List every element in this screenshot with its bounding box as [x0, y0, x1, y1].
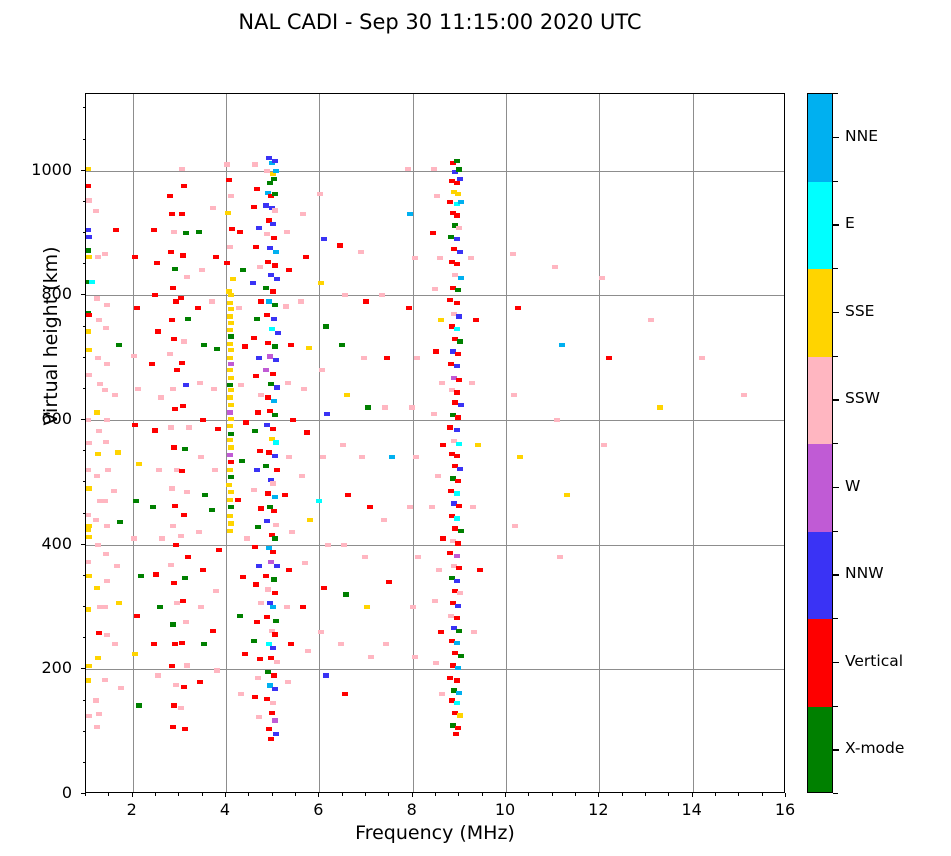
- data-point: [433, 661, 439, 665]
- data-point: [179, 212, 185, 216]
- data-point: [236, 306, 242, 310]
- data-point: [255, 410, 261, 414]
- data-point: [511, 393, 517, 397]
- data-point: [270, 550, 276, 554]
- data-point: [216, 548, 222, 552]
- y-tick-minor: [83, 606, 86, 607]
- data-point: [227, 342, 233, 346]
- data-point: [167, 352, 173, 356]
- data-point: [286, 455, 292, 459]
- data-point: [383, 642, 389, 646]
- x-tick-minor: [645, 793, 646, 796]
- data-point: [455, 288, 461, 292]
- data-point: [184, 275, 190, 279]
- data-point: [456, 629, 462, 633]
- data-point: [95, 452, 101, 456]
- data-point: [455, 726, 461, 730]
- x-tick-minor: [668, 793, 669, 796]
- y-tick-minor: [83, 232, 86, 233]
- data-point: [265, 587, 271, 591]
- data-point: [102, 678, 108, 682]
- data-point: [105, 468, 111, 472]
- data-point: [150, 505, 156, 509]
- data-point: [227, 410, 233, 414]
- data-point: [252, 545, 258, 549]
- data-point: [454, 516, 460, 520]
- x-tick-minor: [272, 793, 273, 796]
- data-point: [365, 405, 371, 409]
- data-point: [301, 387, 307, 391]
- data-point: [227, 328, 233, 332]
- data-point: [456, 314, 462, 318]
- data-point: [606, 356, 612, 360]
- data-point: [178, 296, 184, 300]
- y-tick-minor: [83, 731, 86, 732]
- data-point: [228, 307, 234, 311]
- data-point: [210, 206, 216, 210]
- data-point: [456, 691, 462, 695]
- x-tick-mark: [505, 793, 506, 797]
- data-point: [412, 655, 418, 659]
- data-point: [455, 352, 461, 356]
- data-point: [228, 417, 234, 421]
- data-point: [134, 306, 140, 310]
- colorbar-boundary-tick: [833, 618, 838, 619]
- data-point: [264, 615, 270, 619]
- data-point: [559, 343, 565, 347]
- data-point: [151, 228, 157, 232]
- data-point: [412, 256, 418, 260]
- data-point: [104, 303, 110, 307]
- data-point: [454, 579, 460, 583]
- data-point: [85, 329, 91, 333]
- data-point: [270, 605, 276, 609]
- colorbar-segment-e: [808, 182, 832, 270]
- x-tick-label: 16: [755, 800, 815, 819]
- data-point: [454, 554, 460, 558]
- data-point: [648, 318, 654, 322]
- data-point: [267, 246, 273, 250]
- data-point: [452, 273, 458, 277]
- data-point: [258, 299, 264, 303]
- data-point: [289, 530, 295, 534]
- data-point: [117, 520, 123, 524]
- data-point: [272, 495, 278, 499]
- data-point: [477, 568, 483, 572]
- data-point: [552, 265, 558, 269]
- data-point: [269, 327, 275, 331]
- data-point: [274, 468, 280, 472]
- data-point: [181, 513, 187, 517]
- data-point: [447, 551, 453, 555]
- x-tick-label: 10: [475, 800, 535, 819]
- data-point: [452, 400, 458, 404]
- data-point: [268, 560, 274, 564]
- data-point: [186, 425, 192, 429]
- colorbar-tick: [833, 574, 839, 575]
- x-tick-minor: [248, 793, 249, 796]
- data-point: [458, 529, 464, 533]
- x-tick-label: 6: [288, 800, 348, 819]
- data-point: [415, 555, 421, 559]
- data-point: [342, 692, 348, 696]
- colorbar-tick: [833, 224, 839, 225]
- data-point: [447, 200, 453, 204]
- data-point: [271, 673, 277, 677]
- data-point: [155, 329, 161, 333]
- x-tick-mark: [225, 793, 226, 797]
- data-point: [227, 395, 233, 399]
- data-point: [264, 519, 270, 523]
- data-point: [228, 505, 234, 509]
- data-point: [85, 513, 91, 517]
- y-tick-minor: [83, 637, 86, 638]
- colorbar-tick: [833, 662, 839, 663]
- data-point: [181, 685, 187, 689]
- data-point: [183, 231, 189, 235]
- colorbar-boundary-tick: [833, 443, 838, 444]
- colorbar-tick: [833, 399, 839, 400]
- data-point: [269, 711, 275, 715]
- data-point: [307, 518, 313, 522]
- data-point: [86, 574, 92, 578]
- data-point: [228, 348, 234, 352]
- data-point: [156, 468, 162, 472]
- data-point: [255, 676, 261, 680]
- data-point: [458, 403, 464, 407]
- data-point: [256, 356, 262, 360]
- colorbar-boundary-tick: [833, 531, 838, 532]
- data-point: [228, 334, 234, 338]
- x-tick-label: 4: [195, 800, 255, 819]
- data-point: [455, 415, 461, 419]
- data-point: [699, 356, 705, 360]
- x-tick-minor: [295, 793, 296, 796]
- data-point: [454, 213, 460, 217]
- data-point: [457, 467, 463, 471]
- data-point: [86, 313, 92, 317]
- data-point: [183, 620, 189, 624]
- data-point: [104, 579, 110, 583]
- data-point: [272, 536, 278, 540]
- colorbar-tick: [833, 487, 839, 488]
- data-point: [340, 443, 346, 447]
- data-point: [133, 499, 139, 503]
- data-point: [321, 237, 327, 241]
- data-point: [433, 349, 439, 353]
- data-point: [456, 504, 462, 508]
- data-point: [436, 568, 442, 572]
- data-point: [438, 318, 444, 322]
- data-point: [344, 393, 350, 397]
- data-point: [455, 604, 461, 608]
- data-point: [169, 486, 175, 490]
- data-point: [94, 474, 100, 478]
- data-point: [454, 390, 460, 394]
- data-point: [266, 299, 272, 303]
- gridline-vertical: [133, 94, 134, 792]
- data-point: [409, 405, 415, 409]
- x-tick-minor: [575, 793, 576, 796]
- data-point: [179, 167, 185, 171]
- data-point: [272, 303, 278, 307]
- data-point: [454, 364, 460, 368]
- data-point: [457, 177, 463, 181]
- data-point: [338, 642, 344, 646]
- data-point: [104, 633, 110, 637]
- data-point: [258, 601, 264, 605]
- data-point: [85, 167, 91, 171]
- data-point: [209, 508, 215, 512]
- data-point: [96, 631, 102, 635]
- data-point: [275, 331, 281, 335]
- data-point: [174, 601, 180, 605]
- data-point: [290, 418, 296, 422]
- data-point: [454, 701, 460, 705]
- x-tick-minor: [202, 793, 203, 796]
- data-point: [270, 222, 276, 226]
- data-point: [235, 498, 241, 502]
- data-point: [227, 468, 233, 472]
- data-point: [429, 505, 435, 509]
- colorbar-segment-x-mode: [808, 707, 832, 794]
- data-point: [115, 450, 121, 454]
- colorbar-label-vertical: Vertical: [845, 652, 903, 670]
- data-point: [89, 280, 95, 284]
- data-point: [116, 601, 122, 605]
- data-point: [214, 347, 220, 351]
- data-point: [284, 605, 290, 609]
- data-point: [454, 491, 460, 495]
- x-tick-minor: [528, 793, 529, 796]
- x-tick-label: 2: [102, 800, 162, 819]
- data-point: [298, 299, 304, 303]
- data-point: [237, 230, 243, 234]
- data-point: [515, 306, 521, 310]
- data-point: [386, 580, 392, 584]
- data-point: [86, 235, 92, 239]
- data-point: [196, 530, 202, 534]
- data-point: [430, 231, 436, 235]
- data-point: [379, 293, 385, 297]
- data-point: [342, 293, 348, 297]
- data-point: [283, 304, 289, 308]
- data-point: [345, 493, 351, 497]
- data-point: [263, 368, 269, 372]
- data-point: [226, 483, 232, 487]
- data-point: [85, 184, 91, 188]
- data-point: [227, 438, 233, 442]
- data-point: [182, 447, 188, 451]
- data-point: [510, 252, 516, 256]
- data-point: [256, 715, 262, 719]
- data-point: [361, 356, 367, 360]
- colorbar-label-ssw: SSW: [845, 389, 880, 407]
- data-point: [86, 535, 92, 539]
- x-tick-minor: [178, 793, 179, 796]
- data-point: [323, 324, 329, 328]
- data-point: [238, 692, 244, 696]
- data-point: [470, 505, 476, 509]
- data-point: [228, 445, 234, 449]
- colorbar-label-sse: SSE: [845, 302, 874, 320]
- data-point: [454, 301, 460, 305]
- data-point: [103, 326, 109, 330]
- data-point: [103, 440, 109, 444]
- data-point: [211, 387, 217, 391]
- data-point: [303, 255, 309, 259]
- data-point: [382, 405, 388, 409]
- data-point: [456, 378, 462, 382]
- gridline-horizontal: [86, 669, 784, 670]
- data-point: [227, 356, 233, 360]
- data-point: [173, 299, 179, 303]
- data-point: [273, 440, 279, 444]
- data-point: [227, 453, 233, 457]
- data-point: [657, 405, 663, 409]
- data-point: [273, 619, 279, 623]
- colorbar-boundary-tick: [833, 268, 838, 269]
- data-point: [85, 468, 91, 472]
- data-point: [149, 362, 155, 366]
- data-point: [255, 525, 261, 529]
- data-point: [180, 404, 186, 408]
- data-point: [455, 192, 461, 196]
- data-point: [282, 493, 288, 497]
- gridline-vertical: [413, 94, 414, 792]
- data-point: [257, 449, 263, 453]
- data-point: [272, 159, 278, 163]
- x-tick-minor: [738, 793, 739, 796]
- data-point: [343, 592, 349, 596]
- data-point: [134, 614, 140, 618]
- figure-canvas: NAL CADI - Sep 30 11:15:00 2020 UTC Freq…: [0, 0, 951, 856]
- data-point: [228, 432, 234, 436]
- data-point: [323, 673, 329, 677]
- data-point: [454, 262, 460, 266]
- data-point: [179, 469, 185, 473]
- data-point: [230, 277, 236, 281]
- data-point: [454, 454, 460, 458]
- colorbar-segment-ssw: [808, 357, 832, 445]
- data-point: [212, 468, 218, 472]
- data-point: [197, 680, 203, 684]
- data-point: [454, 237, 460, 241]
- data-point: [434, 194, 440, 198]
- data-point: [227, 245, 233, 249]
- data-point: [86, 714, 92, 718]
- data-point: [85, 678, 91, 682]
- data-point: [451, 247, 457, 251]
- data-point: [384, 356, 390, 360]
- data-point: [86, 255, 92, 259]
- data-point: [183, 383, 189, 387]
- data-point: [118, 686, 124, 690]
- data-point: [158, 395, 164, 399]
- data-point: [454, 428, 460, 432]
- data-point: [288, 343, 294, 347]
- data-point: [265, 341, 271, 345]
- data-point: [85, 528, 91, 532]
- data-point: [95, 656, 101, 660]
- data-point: [112, 642, 118, 646]
- data-point: [85, 228, 91, 232]
- data-point: [268, 273, 274, 277]
- data-point: [453, 732, 459, 736]
- data-point: [452, 651, 458, 655]
- data-point: [274, 277, 280, 281]
- data-point: [256, 564, 262, 568]
- x-tick-minor: [388, 793, 389, 796]
- data-point: [228, 376, 234, 380]
- colorbar-segment-nnw: [808, 532, 832, 620]
- data-point: [178, 706, 184, 710]
- data-point: [741, 393, 747, 397]
- data-point: [168, 250, 174, 254]
- data-point: [288, 642, 294, 646]
- data-point: [151, 642, 157, 646]
- data-point: [284, 230, 290, 234]
- data-point: [410, 605, 416, 609]
- data-point: [273, 169, 279, 173]
- data-point: [240, 268, 246, 272]
- data-point: [86, 441, 92, 445]
- data-point: [243, 420, 249, 424]
- data-point: [454, 678, 460, 682]
- data-point: [271, 399, 277, 403]
- data-point: [226, 178, 232, 182]
- data-point: [270, 646, 276, 650]
- data-point: [240, 575, 246, 579]
- data-point: [251, 488, 257, 492]
- data-point: [113, 228, 119, 232]
- data-point: [96, 712, 102, 716]
- data-point: [456, 167, 462, 171]
- data-point: [200, 418, 206, 422]
- data-point: [456, 566, 462, 570]
- data-point: [265, 491, 271, 495]
- data-point: [432, 599, 438, 603]
- data-point: [274, 564, 280, 568]
- data-point: [228, 321, 234, 325]
- data-point: [517, 455, 523, 459]
- x-tick-label: 14: [662, 800, 722, 819]
- data-point: [601, 443, 607, 447]
- data-point: [237, 614, 243, 618]
- data-point: [258, 506, 264, 510]
- data-point: [454, 327, 460, 331]
- data-point: [132, 423, 138, 427]
- y-tick-minor: [83, 762, 86, 763]
- data-point: [180, 599, 186, 603]
- data-point: [227, 301, 233, 305]
- data-point: [273, 732, 279, 736]
- data-point: [320, 455, 326, 459]
- data-point: [228, 293, 234, 297]
- data-point: [228, 490, 234, 494]
- data-point: [272, 454, 278, 458]
- data-point: [456, 226, 462, 230]
- data-point: [264, 232, 270, 236]
- data-point: [85, 248, 91, 252]
- data-point: [227, 498, 233, 502]
- data-point: [172, 267, 178, 271]
- data-point: [180, 253, 186, 257]
- data-point: [306, 346, 312, 350]
- data-point: [198, 605, 204, 609]
- data-point: [185, 555, 191, 559]
- data-point: [452, 526, 458, 530]
